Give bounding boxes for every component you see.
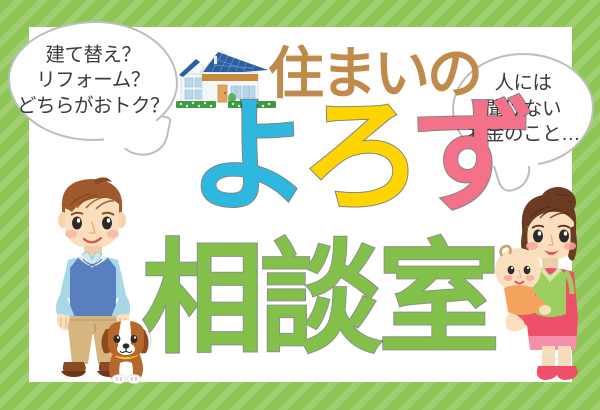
bubble-left-line-1: 建て替え？ (45, 43, 140, 68)
bubble-left-tail-mask (104, 120, 156, 148)
kana-ro: ろ (300, 95, 412, 219)
bubble-left-line-2: リフォーム？ (36, 68, 149, 93)
kana-zu: ず (412, 95, 524, 219)
banner-root: 住まいの よろず 相談室 建て替え？ リフォーム？ どちらがおトク？ 人には 聞… (0, 0, 600, 410)
bubble-left-line-3: どちらがおトク？ (17, 94, 169, 119)
big-kana-yorozu: よろず (188, 95, 524, 219)
big-kanji-soudanshitsu: 相談室 (142, 238, 496, 360)
kana-yo: よ (188, 95, 300, 219)
dog-illustration (96, 315, 158, 385)
dog-figure-icon (96, 315, 158, 385)
